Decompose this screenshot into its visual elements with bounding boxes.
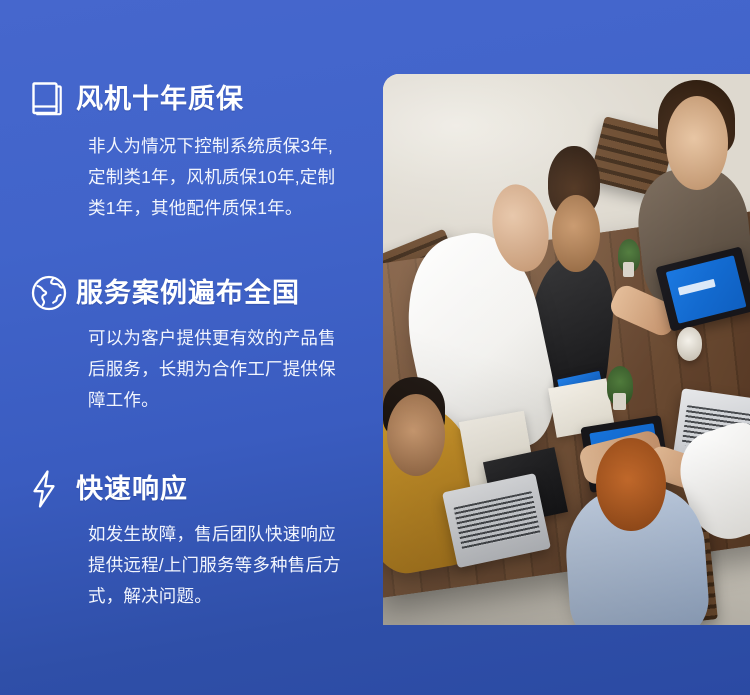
feature-header: 服务案例遍布全国 bbox=[30, 272, 380, 314]
feature-body-line: 提供远程/上门服务等多种售后方 bbox=[88, 550, 376, 581]
globe-icon bbox=[30, 272, 76, 314]
photo-person-head bbox=[387, 394, 446, 477]
lightning-bolt-icon bbox=[30, 468, 76, 510]
feature-item-fast-response: 快速响应 如发生故障，售后团队快速响应 提供远程/上门服务等多种售后方 式，解决… bbox=[30, 468, 380, 612]
photo-plant bbox=[618, 239, 640, 272]
feature-item-warranty: 风机十年质保 非人为情况下控制系统质保3年, 定制类1年，风机质保10年,定制 … bbox=[30, 78, 380, 224]
feature-body-line: 可以为客户提供更有效的产品售 bbox=[88, 323, 376, 354]
photo-person-head bbox=[666, 96, 728, 190]
feature-body-line: 式，解决问题。 bbox=[88, 581, 376, 612]
feature-body-line: 非人为情况下控制系统质保3年, bbox=[88, 131, 376, 162]
team-meeting-photo bbox=[383, 74, 750, 625]
feature-title: 服务案例遍布全国 bbox=[76, 277, 300, 309]
feature-title: 风机十年质保 bbox=[76, 83, 244, 115]
feature-header: 风机十年质保 bbox=[30, 78, 380, 120]
feature-body-line: 障工作。 bbox=[88, 385, 376, 416]
feature-body-line: 如发生故障，售后团队快速响应 bbox=[88, 519, 376, 550]
photo-person-head bbox=[552, 195, 600, 272]
photo-plant bbox=[607, 366, 633, 405]
feature-body-line: 后服务，长期为合作工厂提供保 bbox=[88, 354, 376, 385]
feature-body-line: 类1年，其他配件质保1年。 bbox=[88, 193, 376, 224]
feature-list: 风机十年质保 非人为情况下控制系统质保3年, 定制类1年，风机质保10年,定制 … bbox=[0, 0, 385, 695]
feature-body: 非人为情况下控制系统质保3年, 定制类1年，风机质保10年,定制 类1年，其他配… bbox=[88, 131, 376, 224]
feature-body: 可以为客户提供更有效的产品售 后服务，长期为合作工厂提供保 障工作。 bbox=[88, 323, 376, 416]
photo-content bbox=[383, 74, 750, 625]
feature-body-line: 定制类1年，风机质保10年,定制 bbox=[88, 162, 376, 193]
photo-coffee-cup bbox=[677, 327, 703, 360]
feature-header: 快速响应 bbox=[30, 468, 380, 510]
promo-banner: 风机十年质保 非人为情况下控制系统质保3年, 定制类1年，风机质保10年,定制 … bbox=[0, 0, 750, 695]
feature-body: 如发生故障，售后团队快速响应 提供远程/上门服务等多种售后方 式，解决问题。 bbox=[88, 519, 376, 612]
book-icon bbox=[30, 78, 76, 120]
photo-person-head bbox=[596, 438, 666, 532]
feature-item-nationwide-cases: 服务案例遍布全国 可以为客户提供更有效的产品售 后服务，长期为合作工厂提供保 障… bbox=[30, 272, 380, 416]
feature-title: 快速响应 bbox=[76, 473, 188, 505]
